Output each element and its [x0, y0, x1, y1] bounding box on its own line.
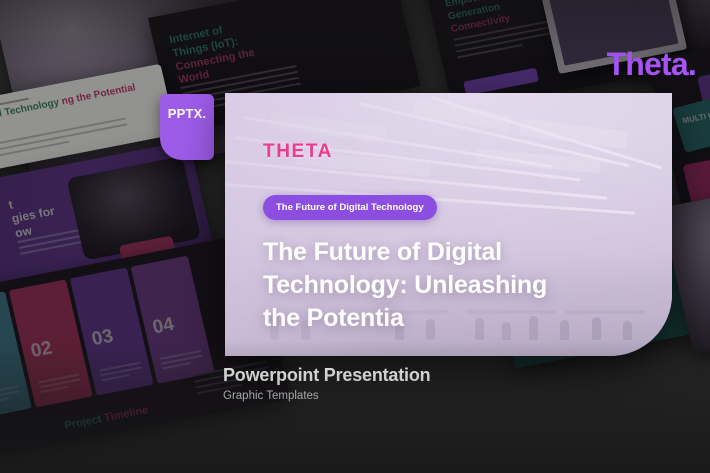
caption-block: Powerpoint Presentation Graphic Template… — [223, 365, 430, 402]
timeline-title-part-1: Project — [63, 413, 105, 432]
main-slide-preview: THETA The Future of Digital Technology T… — [225, 93, 672, 356]
main-slide-pill-badge: The Future of Digital Technology — [263, 195, 437, 220]
caption-subline: Graphic Templates — [223, 390, 430, 402]
timeline-card-number: 04 — [151, 314, 177, 339]
caption-headline: Powerpoint Presentation — [223, 365, 430, 386]
timeline-card-lines — [99, 362, 144, 385]
slide-strategies-title-line-2: gies for — [10, 204, 56, 226]
timeline-slide-title: Project Timeline — [63, 404, 149, 432]
main-slide-title: The Future of Digital Technology: Unleas… — [263, 236, 563, 335]
slide-empowering-button — [463, 68, 539, 96]
pptx-badge-label: PPTX. — [160, 106, 214, 121]
slide-strategies-title-line-1: t — [7, 198, 14, 212]
presentation-mockup-canvas: Internet of Things (IoT): Connecting the… — [0, 0, 710, 473]
timeline-card-number: 03 — [90, 326, 116, 351]
slide-light-title-line-2: ng the Potential — [61, 82, 137, 107]
timeline-card-lines — [38, 373, 83, 396]
pptx-format-badge: PPTX. — [160, 94, 214, 160]
main-slide-logo: THETA — [263, 141, 642, 163]
timeline-card-lines — [160, 350, 205, 373]
timeline-card-number: 02 — [29, 338, 55, 363]
timeline-card-lines — [0, 385, 22, 408]
timeline-card-list: 01 02 03 04 — [0, 256, 215, 420]
main-slide-content: THETA The Future of Digital Technology T… — [263, 141, 642, 335]
theta-wordmark: Theta. — [607, 48, 696, 80]
timeline-title-part-2: Timeline — [103, 404, 149, 424]
